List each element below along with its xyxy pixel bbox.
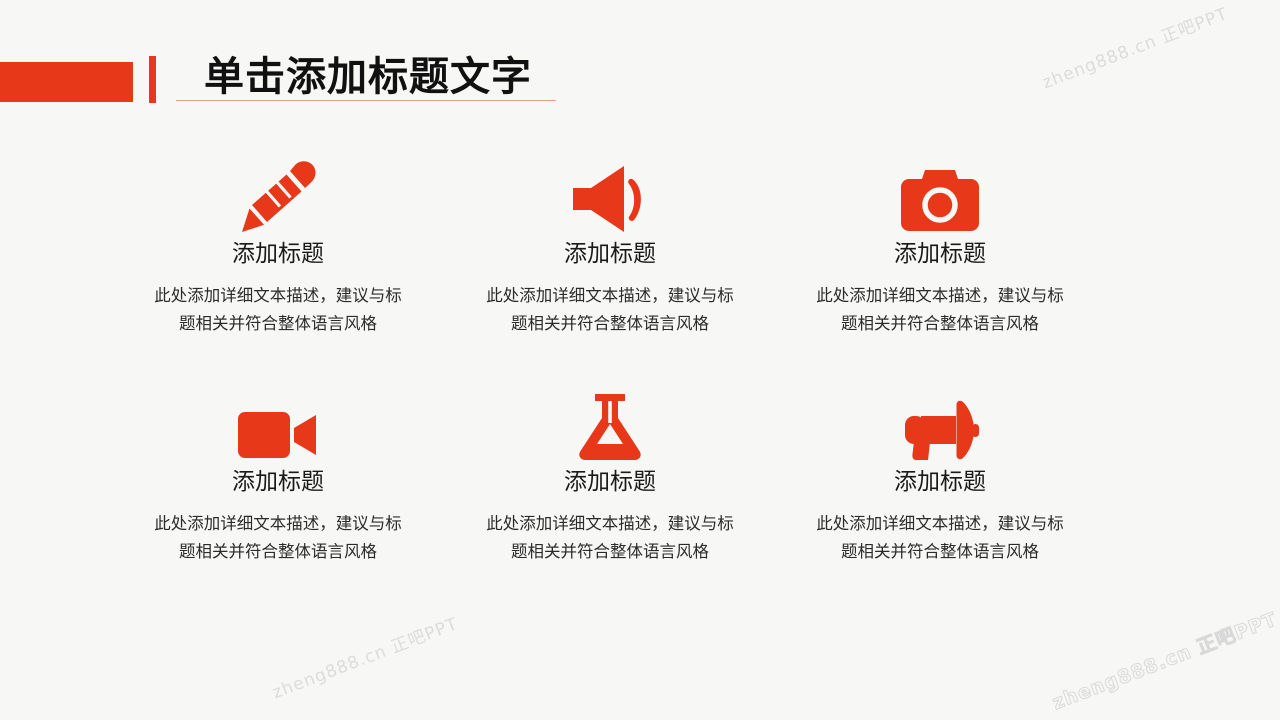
feature-item-video[interactable]: 添加标题 此处添加详细文本描述，建议与标题相关并符合整体语言风格 — [128, 388, 428, 566]
feature-title: 添加标题 — [128, 238, 428, 268]
header-underline — [176, 100, 556, 101]
feature-description: 此处添加详细文本描述，建议与标题相关并符合整体语言风格 — [816, 510, 1064, 566]
pencil-icon — [128, 160, 428, 232]
feature-title: 添加标题 — [460, 466, 760, 496]
feature-title: 添加标题 — [460, 238, 760, 268]
feature-item-megaphone[interactable]: 添加标题 此处添加详细文本描述，建议与标题相关并符合整体语言风格 — [790, 388, 1090, 566]
watermark-bottom-right: zheng888.cn 正吧PPT — [1048, 604, 1280, 715]
feature-title: 添加标题 — [128, 466, 428, 496]
header-accent-block — [0, 62, 133, 102]
feature-item-speaker[interactable]: 添加标题 此处添加详细文本描述，建议与标题相关并符合整体语言风格 — [460, 160, 760, 338]
page-title: 单击添加标题文字 — [204, 54, 532, 100]
feature-description: 此处添加详细文本描述，建议与标题相关并符合整体语言风格 — [486, 282, 734, 338]
feature-title: 添加标题 — [790, 466, 1090, 496]
watermark-bottom-left: zheng888.cn 正吧PPT — [268, 609, 461, 703]
feature-description: 此处添加详细文本描述，建议与标题相关并符合整体语言风格 — [816, 282, 1064, 338]
feature-item-flask[interactable]: 添加标题 此处添加详细文本描述，建议与标题相关并符合整体语言风格 — [460, 388, 760, 566]
slide-header: 单击添加标题文字 — [0, 0, 1280, 130]
speaker-icon — [460, 160, 760, 232]
slide-canvas: 单击添加标题文字 添加标题 此处添加详细文 — [0, 0, 1280, 720]
feature-description: 此处添加详细文本描述，建议与标题相关并符合整体语言风格 — [154, 282, 402, 338]
megaphone-icon — [790, 388, 1090, 460]
header-accent-tick — [149, 56, 156, 103]
feature-description: 此处添加详细文本描述，建议与标题相关并符合整体语言风格 — [154, 510, 402, 566]
feature-title: 添加标题 — [790, 238, 1090, 268]
camera-icon — [790, 160, 1090, 232]
feature-description: 此处添加详细文本描述，建议与标题相关并符合整体语言风格 — [486, 510, 734, 566]
video-camera-icon — [128, 388, 428, 460]
feature-item-camera[interactable]: 添加标题 此处添加详细文本描述，建议与标题相关并符合整体语言风格 — [790, 160, 1090, 338]
feature-item-pencil[interactable]: 添加标题 此处添加详细文本描述，建议与标题相关并符合整体语言风格 — [128, 160, 428, 338]
flask-icon — [460, 388, 760, 460]
feature-grid: 添加标题 此处添加详细文本描述，建议与标题相关并符合整体语言风格 添加标题 此处… — [0, 150, 1280, 610]
